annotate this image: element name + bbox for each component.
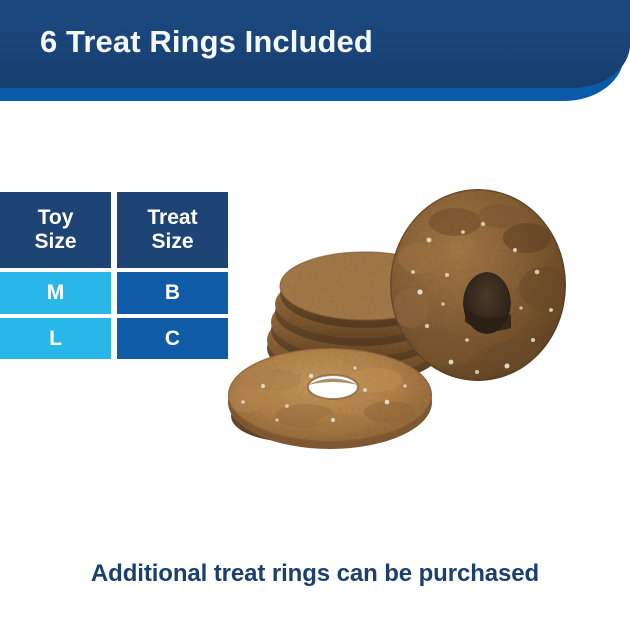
- banner-title: 6 Treat Rings Included: [40, 24, 373, 60]
- toy-size-value-large: L: [0, 318, 111, 359]
- treat-size-header: Treat Size: [117, 192, 228, 268]
- toy-size-header-line2: Size: [34, 230, 76, 254]
- toy-size-header: Toy Size: [0, 192, 111, 268]
- treat-rings-photo: [215, 180, 630, 470]
- footer-note: Additional treat rings can be purchased: [0, 560, 630, 588]
- treat-size-header-line1: Treat: [147, 206, 197, 230]
- product-feature-image: 6 Treat Rings Included Toy Size M L Trea…: [0, 0, 630, 630]
- header-banner: 6 Treat Rings Included: [0, 0, 630, 104]
- treat-ring-flat: [225, 348, 432, 449]
- toy-size-header-line1: Toy: [38, 206, 74, 230]
- treat-size-value-b: B: [117, 272, 228, 314]
- treat-size-value-c: C: [117, 318, 228, 359]
- size-chart-table: Toy Size M L Treat Size B C: [0, 192, 228, 359]
- treat-size-header-line2: Size: [151, 230, 193, 254]
- treat-size-column: Treat Size B C: [117, 192, 228, 359]
- toy-size-column: Toy Size M L: [0, 192, 111, 359]
- treat-ring-upright: [390, 189, 571, 381]
- treat-ring-hole: [463, 272, 511, 334]
- toy-size-value-medium: M: [0, 272, 111, 314]
